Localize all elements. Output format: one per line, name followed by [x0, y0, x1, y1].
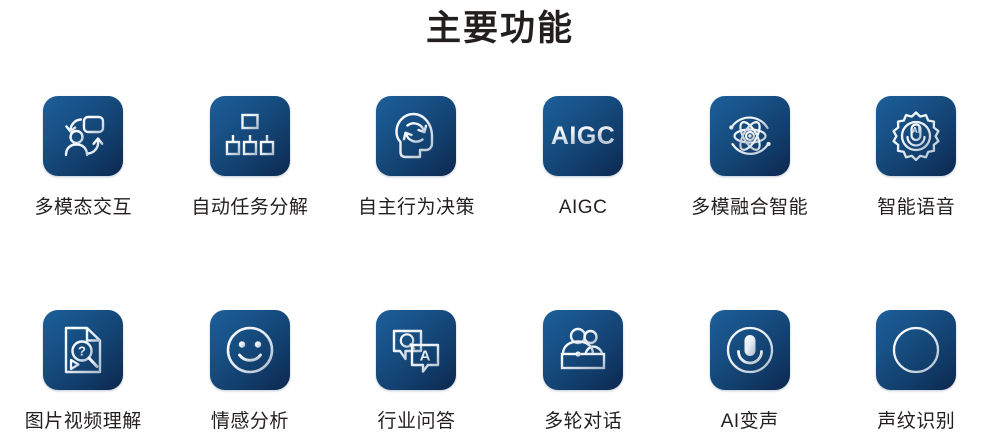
atom-orbit-icon: [723, 110, 777, 162]
feature-cell-multimodal-interaction[interactable]: 多模态交互: [0, 96, 167, 219]
feature-tile[interactable]: AIGC: [543, 96, 623, 176]
feature-cell-autonomous-decision[interactable]: 自主行为决策: [333, 96, 500, 219]
svg-text:AI: AI: [912, 126, 920, 135]
page-title: 主要功能: [0, 0, 1000, 52]
feature-tile[interactable]: [43, 96, 123, 176]
gear-microphone-ai-icon: AI: [890, 110, 942, 162]
feature-cell-task-decomposition[interactable]: 自动任务分解: [167, 96, 334, 219]
feature-tile[interactable]: [710, 96, 790, 176]
voice-waveform-circle-icon: [891, 325, 941, 375]
feature-cell-aigc[interactable]: AIGC AIGC: [500, 96, 667, 219]
feature-tile[interactable]: [876, 310, 956, 390]
feature-label: 自主行为决策: [358, 197, 475, 219]
features-grid: 多模态交互: [0, 96, 1000, 433]
feature-cell-intelligent-voice[interactable]: AI 智能语音: [833, 96, 1000, 219]
feature-label: 行业问答: [377, 411, 455, 433]
feature-cell-image-video-understanding[interactable]: ? 图片视频理解: [0, 310, 167, 433]
feature-tile[interactable]: [543, 310, 623, 390]
svg-text:?: ?: [78, 344, 86, 359]
feature-cell-multimodal-fusion[interactable]: 多模融合智能: [666, 96, 833, 219]
feature-cell-industry-qa[interactable]: A 行业问答: [333, 310, 500, 433]
feature-cell-voiceprint-recognition[interactable]: 声纹识别: [833, 310, 1000, 433]
feature-tile[interactable]: ?: [43, 310, 123, 390]
feature-label: 智能语音: [877, 197, 955, 219]
feature-tile[interactable]: [210, 96, 290, 176]
feature-label: 多模融合智能: [691, 197, 808, 219]
feature-tile[interactable]: [210, 310, 290, 390]
feature-label: 情感分析: [211, 411, 289, 433]
microphone-circle-icon: [725, 325, 775, 375]
main-features-page: 主要功能: [0, 0, 1000, 447]
feature-label: 自动任务分解: [191, 197, 308, 219]
feature-label: AIGC: [559, 197, 607, 219]
aigc-text-icon: AIGC: [551, 124, 616, 149]
feature-tile[interactable]: [376, 96, 456, 176]
document-magnifier-question-icon: ?: [60, 324, 106, 376]
feature-tile[interactable]: [710, 310, 790, 390]
feature-label: 多轮对话: [544, 411, 622, 433]
feature-tile[interactable]: A: [376, 310, 456, 390]
features-row-1: 多模态交互: [0, 96, 1000, 219]
feature-cell-sentiment-analysis[interactable]: 情感分析: [167, 310, 334, 433]
task-decomposition-tree-icon: [225, 113, 275, 159]
feature-label: 多模态交互: [35, 197, 133, 219]
multimodal-interaction-icon: [57, 110, 109, 162]
feature-cell-multi-turn-dialogue[interactable]: 多轮对话: [500, 310, 667, 433]
feature-label: 图片视频理解: [25, 411, 142, 433]
qa-speech-bubbles-icon: A: [390, 325, 442, 375]
feature-tile[interactable]: AI: [876, 96, 956, 176]
feature-cell-ai-voice-change[interactable]: AI变声: [666, 310, 833, 433]
people-at-table-icon: [556, 327, 610, 373]
feature-label: AI变声: [721, 411, 779, 433]
svg-text:A: A: [420, 348, 431, 365]
feature-label: 声纹识别: [877, 411, 955, 433]
head-refresh-decision-icon: [392, 110, 440, 162]
features-row-2: ? 图片视频理解: [0, 310, 1000, 433]
smiley-face-icon: [225, 325, 275, 375]
